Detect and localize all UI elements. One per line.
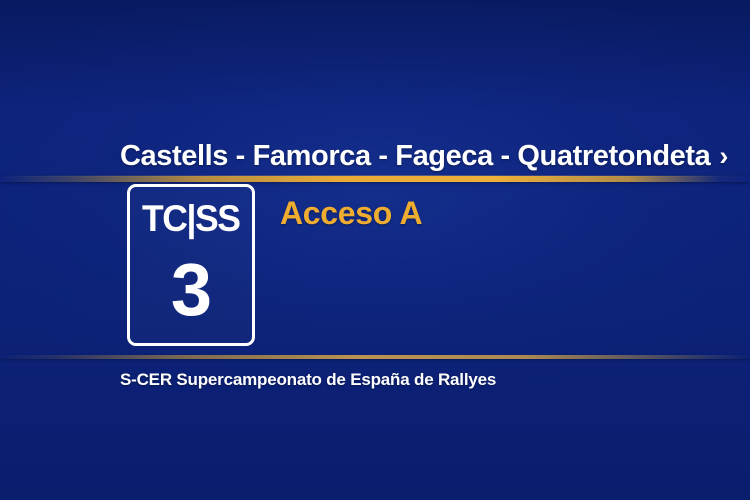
access-label: Acceso A	[280, 197, 422, 229]
stage-badge-number: 3	[171, 253, 211, 327]
stage-number-badge: TC|SS 3	[127, 184, 255, 346]
route-title-row: Castells - Famorca - Fageca - Quatretond…	[0, 136, 750, 176]
chevron-right-icon: ›	[719, 143, 728, 170]
stage-info-band: TC|SS 3 Acceso A	[0, 184, 750, 354]
route-title: Castells - Famorca - Fageca - Quatretond…	[120, 142, 710, 171]
stage-badge-code: TC|SS	[142, 200, 239, 237]
rally-stage-overlay-card: Castells - Famorca - Fageca - Quatretond…	[0, 0, 750, 500]
series-caption: S-CER Supercampeonato de España de Rally…	[120, 371, 496, 388]
series-caption-row: S-CER Supercampeonato de España de Rally…	[0, 364, 750, 394]
